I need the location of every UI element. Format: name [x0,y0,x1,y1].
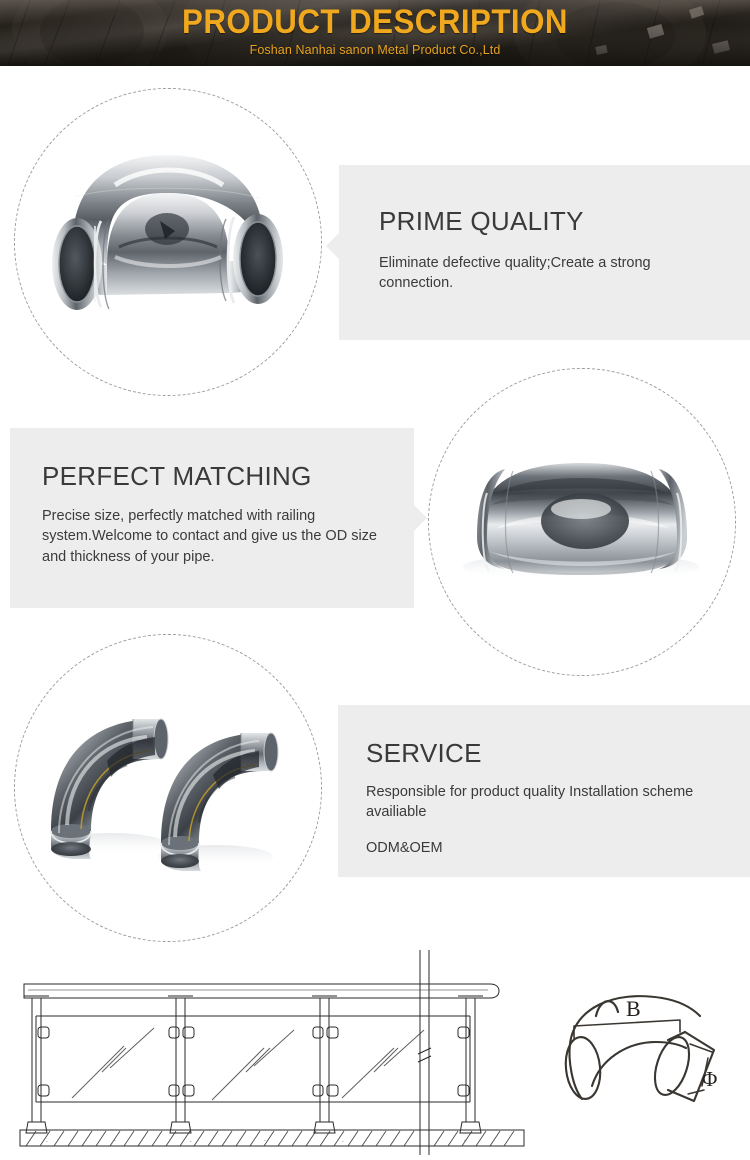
feature-panel-prime-quality: PRIME QUALITY Eliminate defective qualit… [339,165,750,340]
panel-body-prime-quality: Eliminate defective quality;Create a str… [379,253,691,294]
company-name: Foshan Nanhai sanon Metal Product Co.,Lt… [0,41,750,57]
glass-balustrade-diagram: .. .. .. [2,950,542,1155]
svg-text:.: . [464,1135,466,1143]
elbow-90-horizontal-image [15,89,321,395]
panel-heading-prime-quality: PRIME QUALITY [379,207,750,237]
panel-body-service: Responsible for product quality Installa… [366,782,721,823]
elbow-curved-bar-image [429,369,735,675]
page-title: PRODUCT DESCRIPTION [30,0,720,41]
elbow-diameter-label: Φ [702,1067,717,1091]
svg-text:.: . [190,1136,192,1144]
elbow-dimension-drawing: B Φ [552,968,748,1148]
feature-panel-perfect-matching: PERFECT MATCHING Precise size, perfectly… [10,428,414,608]
panel-body-service-secondary: ODM&OEM [366,838,750,859]
panel-notch-left-icon [326,233,339,259]
elbow-pair-image [15,635,321,941]
panel-heading-perfect-matching: PERFECT MATCHING [42,462,414,492]
svg-text:.: . [342,1136,344,1144]
panel-notch-right-icon [414,505,427,531]
panel-heading-service: SERVICE [366,739,750,769]
svg-text:.: . [46,1136,48,1144]
feature-panel-service: SERVICE Responsible for product quality … [338,705,750,877]
product-photo-elbow-curved-bar [428,368,736,676]
product-photo-elbow-pair [14,634,322,942]
panel-body-perfect-matching: Precise size, perfectly matched with rai… [42,506,392,568]
product-photo-elbow-90-horizontal [14,88,322,396]
page-header-banner: PRODUCT DESCRIPTION Foshan Nanhai sanon … [0,0,750,66]
elbow-arc-label: B [626,996,641,1021]
svg-text:.: . [114,1135,116,1143]
svg-text:.: . [264,1135,266,1143]
elbow-dimension-diagram: B Φ [552,968,748,1148]
railing-technical-drawing: .. .. .. [2,950,542,1155]
